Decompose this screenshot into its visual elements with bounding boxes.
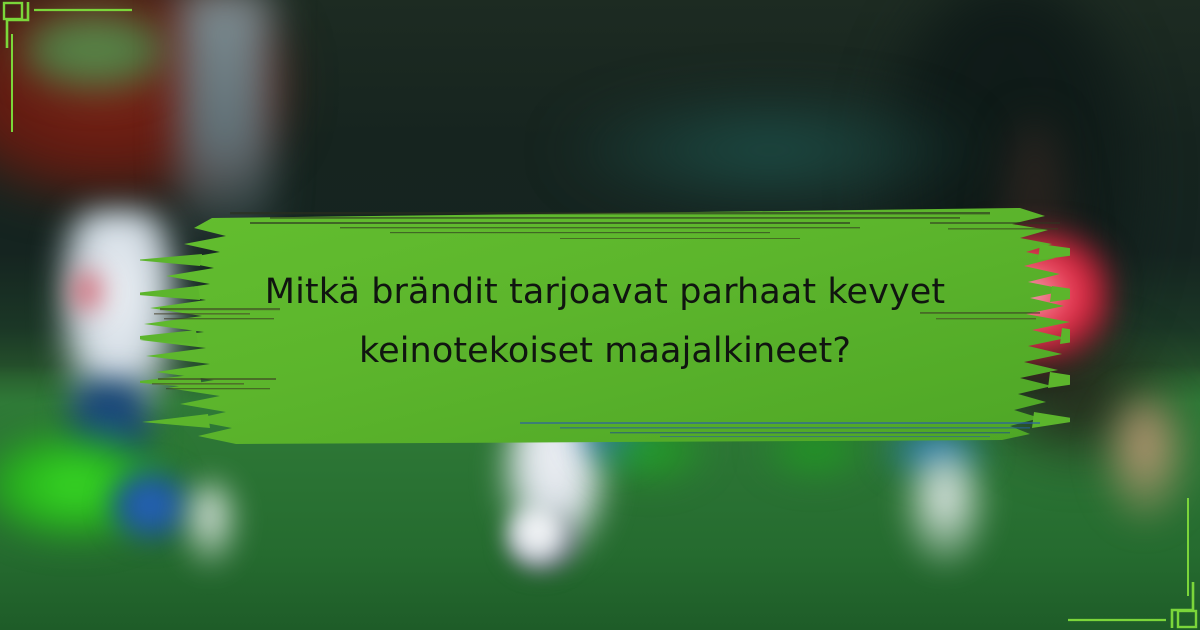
banner-brush-shape [140, 182, 1070, 462]
background-player-legs-right [1100, 395, 1190, 525]
headline-banner [140, 182, 1070, 462]
background-shirt-number [64, 262, 110, 320]
background-soccer-ball [505, 505, 577, 573]
share-card-canvas: Mitkä brändit tarjoavat parhaat kevyet k… [0, 0, 1200, 630]
background-white-sock [180, 480, 240, 570]
background-green-sign [20, 10, 170, 90]
background-blue-object [110, 470, 190, 540]
background-white-kit-right [900, 450, 990, 570]
